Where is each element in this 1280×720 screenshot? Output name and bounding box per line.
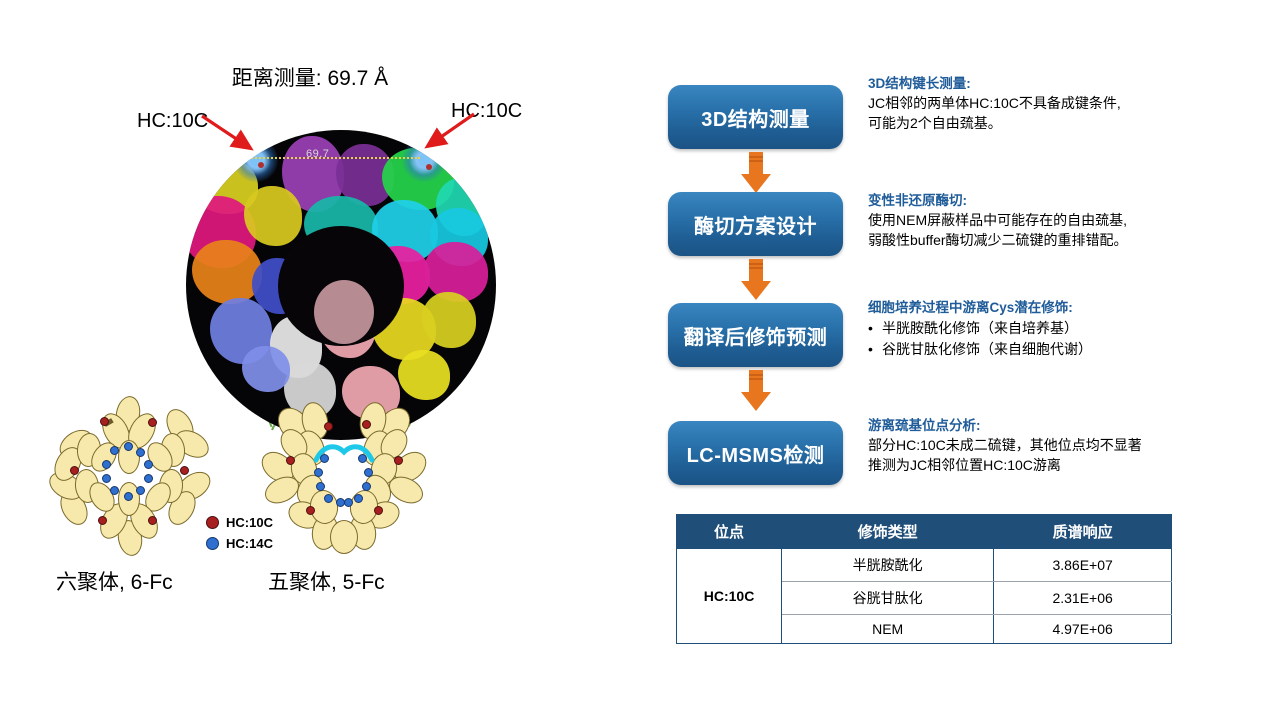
note-head-2: 变性非还原酶切: — [868, 191, 1168, 211]
distance-dotted-line — [248, 157, 420, 159]
table-cell-response: 2.31E+06 — [994, 582, 1172, 615]
table-cell-site: HC:10C — [677, 549, 782, 644]
note-lc-msms: 游离巯基位点分析: 部分HC:10C未成二硫键，其他位点均不显著 推测为JC相邻… — [868, 416, 1168, 476]
table-cell-modification: 半胱胺酰化 — [782, 549, 994, 582]
pentamer-caption: 五聚体, 5-Fc — [268, 566, 385, 596]
legend-dot-red — [206, 516, 219, 529]
flow-box-digestion-design[interactable]: 酶切方案设计 — [668, 192, 843, 256]
note-head-4: 游离巯基位点分析: — [868, 416, 1168, 436]
table-cell-modification: 谷胱甘肽化 — [782, 582, 994, 615]
protein-3d-structure: 69.7 — [186, 130, 496, 440]
hexamer-caption: 六聚体, 6-Fc — [56, 566, 173, 596]
flow-arrow-3 — [740, 370, 772, 412]
table-header-modification: 修饰类型 — [782, 515, 994, 549]
note-ptm-prediction: 细胞培养过程中游离Cys潜在修饰: • 半胱胺酰化修饰（来自培养基） • 谷胱甘… — [868, 298, 1168, 360]
table-header-response: 质谱响应 — [994, 515, 1172, 549]
flow-box-ptm-prediction[interactable]: 翻译后修饰预测 — [668, 303, 843, 367]
flow-arrow-1 — [740, 152, 772, 194]
hexamer-schematic — [48, 398, 218, 558]
bullet-icon: • — [868, 339, 882, 360]
note-bullet-3-1: • 半胱胺酰化修饰（来自培养基） — [868, 318, 1168, 339]
note-line-1-2: 可能为2个自由巯基。 — [868, 114, 1168, 134]
flow-box-lc-msms[interactable]: LC-MSMS检测 — [668, 421, 843, 485]
legend-dot-blue — [206, 537, 219, 550]
bullet-icon: • — [868, 318, 882, 339]
distance-inline-value: 69.7 — [306, 148, 329, 160]
table-header-site: 位点 — [677, 515, 782, 549]
legend-item-hc14c: HC:14C — [206, 533, 273, 554]
polymer-legend: HC:10C HC:14C — [206, 512, 273, 554]
red-arrow-left — [200, 112, 262, 158]
note-head-1: 3D结构键长测量: — [868, 74, 1168, 94]
legend-item-hc10c: HC:10C — [206, 512, 273, 533]
table-cell-response: 4.97E+06 — [994, 615, 1172, 644]
table-cell-response: 3.86E+07 — [994, 549, 1172, 582]
table-header-row: 位点 修饰类型 质谱响应 — [677, 515, 1172, 549]
note-line-4-2: 推测为JC相邻位置HC:10C游离 — [868, 456, 1168, 476]
note-line-2-2: 弱酸性buffer酶切减少二硫键的重排错配。 — [868, 231, 1168, 251]
ms-response-table: 位点 修饰类型 质谱响应 HC:10C 半胱胺酰化 3.86E+07 谷胱甘肽化… — [676, 514, 1172, 644]
table-cell-modification: NEM — [782, 615, 994, 644]
note-digestion-design: 变性非还原酶切: 使用NEM屏蔽样品中可能存在的自由巯基, 弱酸性buffer酶… — [868, 191, 1168, 251]
flow-arrow-2 — [740, 259, 772, 301]
note-3d-measurement: 3D结构键长测量: JC相邻的两单体HC:10C不具备成键条件, 可能为2个自由… — [868, 74, 1168, 134]
note-head-3: 细胞培养过程中游离Cys潜在修饰: — [868, 298, 1168, 318]
note-line-4-1: 部分HC:10C未成二硫键，其他位点均不显著 — [868, 436, 1168, 456]
hc10c-label-left: HC:10C — [137, 110, 208, 133]
left-panel: 距离测量: 69.7 Å — [0, 0, 640, 720]
flow-box-3d-measurement[interactable]: 3D结构测量 — [668, 85, 843, 149]
note-line-2-1: 使用NEM屏蔽样品中可能存在的自由巯基, — [868, 211, 1168, 231]
table-row: HC:10C 半胱胺酰化 3.86E+07 — [677, 549, 1172, 582]
pentamer-schematic — [258, 398, 438, 558]
red-arrow-right — [418, 112, 480, 158]
right-panel: 3D结构测量 酶切方案设计 翻译后修饰预测 LC-MSMS检测 3D结构键长测量… — [640, 0, 1280, 720]
note-line-1-1: JC相邻的两单体HC:10C不具备成键条件, — [868, 94, 1168, 114]
note-bullet-3-2: • 谷胱甘肽化修饰（来自细胞代谢） — [868, 339, 1168, 360]
